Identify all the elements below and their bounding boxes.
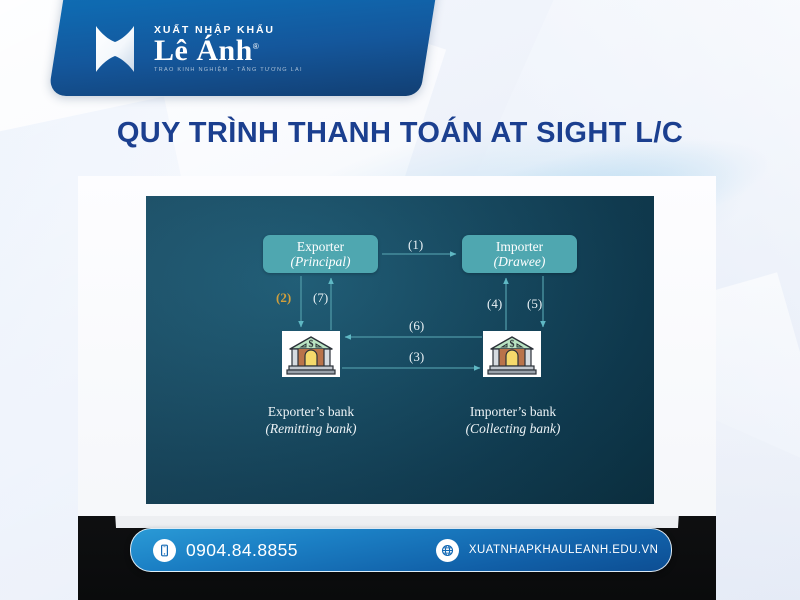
diagram-connectors [146, 196, 654, 504]
step-label-5: (5) [527, 296, 542, 312]
brand-tagline: TRAO KINH NGHIỆM - TĂNG TƯƠNG LAI [154, 68, 303, 74]
footer-website-url: XUATNHAPKHAULEANH.EDU.VN [469, 544, 659, 556]
slide-canvas: XUẤT NHẬP KHẨU Lê Ánh® TRAO KINH NGHIỆM … [0, 0, 800, 600]
contact-footer-bar: 0904.84.8855 XUATNHAPKHAULEANH.EDU.VN [130, 528, 672, 572]
step-label-6: (6) [409, 318, 424, 334]
brand-text: XUẤT NHẬP KHẨU Lê Ánh® TRAO KINH NGHIỆM … [154, 25, 303, 73]
step-label-3: (3) [409, 349, 424, 365]
footer-phone-number: 0904.84.8855 [186, 540, 298, 561]
header-banner-content-layer: XUẤT NHẬP KHẨU Lê Ánh® TRAO KINH NGHIỆM … [48, 0, 420, 96]
node-exporter-title: Exporter [297, 239, 344, 254]
svg-text:$: $ [309, 339, 314, 350]
node-importer-title: Importer [496, 239, 543, 254]
payment-flow-diagram: Exporter (Principal) Importer (Drawee) $ [146, 196, 654, 504]
brand-lockup: XUẤT NHẬP KHẨU Lê Ánh® TRAO KINH NGHIỆM … [88, 12, 428, 86]
footer-phone-group[interactable]: 0904.84.8855 [153, 539, 298, 562]
node-importer-subtitle: (Drawee) [494, 254, 546, 269]
node-exporter-subtitle: (Principal) [291, 254, 351, 269]
bank-building-icon: $ [282, 331, 340, 377]
step-label-4: (4) [487, 296, 502, 312]
bowtie-logo-icon [88, 22, 142, 76]
registered-mark-icon: ® [253, 42, 259, 51]
label-exporter-bank-line2: (Remitting bank) [206, 421, 416, 438]
brand-name-text: Lê Ánh [154, 34, 253, 67]
step-label-7: (7) [313, 290, 328, 306]
label-importer-bank: Importer’s bank (Collecting bank) [408, 404, 618, 438]
footer-website-group[interactable]: XUATNHAPKHAULEANH.EDU.VN [436, 539, 659, 562]
step-label-2: (2) [276, 290, 291, 306]
label-importer-bank-line2: (Collecting bank) [408, 421, 618, 438]
page-title: QUY TRÌNH THANH TOÁN AT SIGHT L/C [0, 117, 800, 150]
step-label-1: (1) [408, 237, 423, 253]
node-exporter[interactable]: Exporter (Principal) [263, 235, 378, 273]
globe-icon [436, 539, 459, 562]
node-importer[interactable]: Importer (Drawee) [462, 235, 577, 273]
brand-name: Lê Ánh® [154, 36, 303, 65]
label-exporter-bank-line1: Exporter’s bank [206, 404, 416, 421]
mobile-phone-icon [153, 539, 176, 562]
bank-building-icon: $ [483, 331, 541, 377]
label-exporter-bank: Exporter’s bank (Remitting bank) [206, 404, 416, 438]
label-importer-bank-line1: Importer’s bank [408, 404, 618, 421]
svg-text:$: $ [510, 339, 515, 350]
